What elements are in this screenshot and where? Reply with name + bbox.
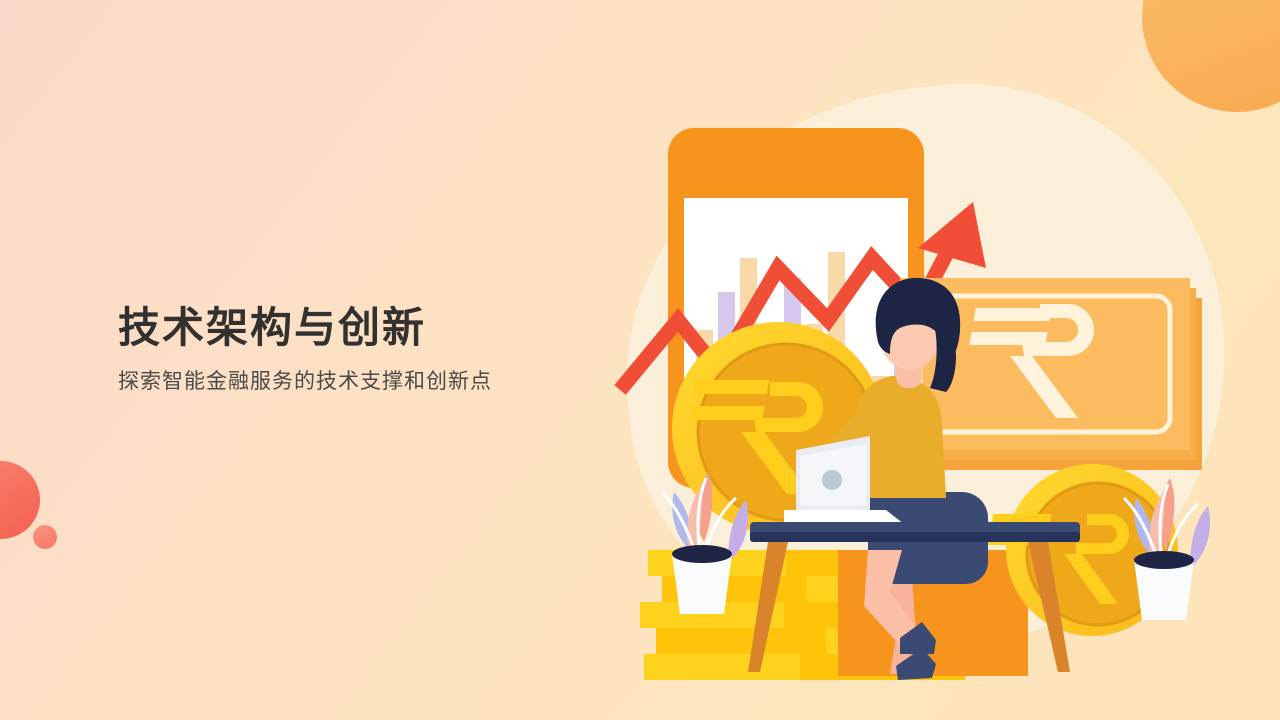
financial-growth-illustration	[600, 80, 1280, 680]
title-block: 技术架构与创新 探索智能金融服务的技术支撑和创新点	[118, 302, 598, 396]
page-title: 技术架构与创新	[118, 302, 598, 355]
decoration-circle-left-large	[0, 461, 40, 539]
slide-canvas: 技术架构与创新 探索智能金融服务的技术支撑和创新点	[0, 0, 1280, 720]
page-subtitle: 探索智能金融服务的技术支撑和创新点	[118, 367, 598, 396]
decoration-circle-left-small	[33, 525, 57, 549]
